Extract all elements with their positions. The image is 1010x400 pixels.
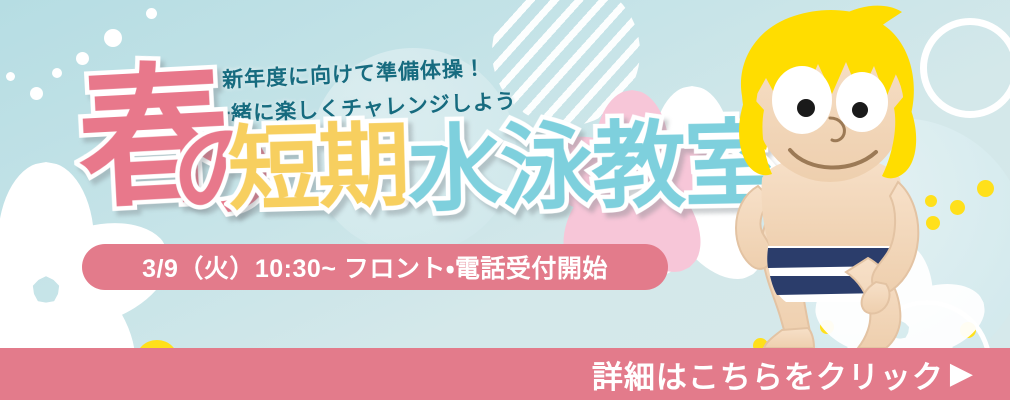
title-word-tanki: 短期 [227,120,409,217]
reception-date-text: 3/9（火）10:30~ フロント・電話受付開始 [142,249,608,285]
play-arrow-icon: ▶ [950,359,974,389]
details-click-cta-bar[interactable]: 詳細はこちらをクリック ▶ [0,348,1010,400]
headline-block: 新年度に向けて準備体操！ 一緒に楽しくチャレンジしよう 春 の 短期 水泳教室 [0,0,700,350]
swimming-class-promo-banner[interactable]: 新年度に向けて準備体操！ 一緒に楽しくチャレンジしよう 春 の 短期 水泳教室 … [0,0,1010,400]
cta-label: 詳細はこちらをクリック [592,352,944,397]
swim-kid-illustration [690,0,1010,350]
reception-date-pill: 3/9（火）10:30~ フロント・電話受付開始 [82,244,668,290]
